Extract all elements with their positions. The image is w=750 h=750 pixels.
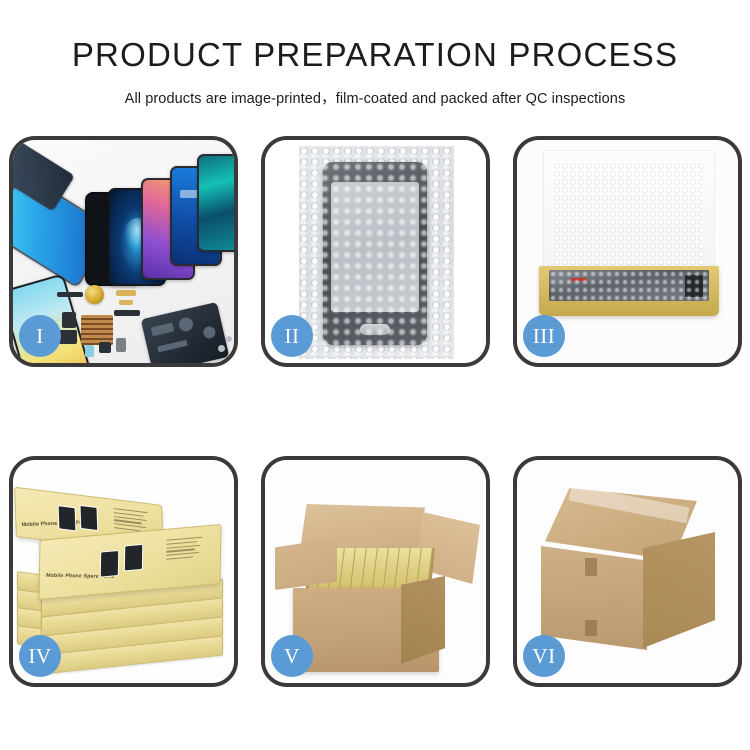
camera-part-icon xyxy=(99,342,111,353)
bracket-part-icon xyxy=(62,312,76,328)
box-phone-image xyxy=(100,550,119,578)
chip-grid-part-icon xyxy=(81,315,113,345)
wrapped-screen-in-box xyxy=(549,270,709,301)
step-badge-6: VI xyxy=(523,635,565,677)
page-subtitle: All products are image-printed，film-coat… xyxy=(0,74,750,108)
carton-seam-tab xyxy=(585,558,597,576)
screw-part-icon xyxy=(218,345,225,352)
antenna-part-icon xyxy=(59,330,77,344)
home-button-icon xyxy=(360,324,390,335)
vibration-motor-part-icon xyxy=(85,285,104,304)
process-step-grid: I II xyxy=(9,136,741,687)
step-badge-2: II xyxy=(271,315,313,357)
process-step-panel-3: III xyxy=(513,136,742,367)
phone-teal-wave-icon xyxy=(197,154,234,252)
page-title: PRODUCT PREPARATION PROCESS xyxy=(0,0,750,74)
process-step-panel-6: VI xyxy=(513,456,742,687)
kraft-box-base xyxy=(539,266,719,316)
flex-cable-part-icon xyxy=(116,290,136,296)
step-badge-1: I xyxy=(19,315,61,357)
process-step-panel-5: V xyxy=(261,456,490,687)
step-badge-3: III xyxy=(523,315,565,357)
ribbon-part-icon xyxy=(114,310,140,316)
speaker-part-icon xyxy=(57,292,83,297)
carton-seam-tab xyxy=(585,620,597,636)
screw-part-icon xyxy=(226,336,232,342)
red-marker-strip xyxy=(571,278,587,281)
connector-part-icon xyxy=(116,338,126,352)
logic-board-part-icon xyxy=(141,302,230,363)
process-step-panel-2: II xyxy=(261,136,490,367)
carton-side-face xyxy=(643,532,715,648)
phone-screen-assembly xyxy=(323,162,427,345)
box-phone-image xyxy=(79,505,98,531)
box-phone-image xyxy=(58,505,77,531)
process-step-panel-4: Mobile Phone Spare Parts Mobile Phone Sp… xyxy=(9,456,238,687)
page-header: PRODUCT PREPARATION PROCESS All products… xyxy=(0,0,750,108)
process-step-panel-1: I xyxy=(9,136,238,367)
product-preparation-process-page: PRODUCT PREPARATION PROCESS All products… xyxy=(0,0,750,750)
box-phone-image xyxy=(124,544,143,572)
screen-display-area xyxy=(331,182,419,312)
step-badge-4: IV xyxy=(19,635,61,677)
step-badge-5: V xyxy=(271,635,313,677)
foam-padding xyxy=(553,162,703,270)
carton-left-flap xyxy=(275,538,337,590)
box-spec-lines xyxy=(166,536,207,570)
sim-tray-part-icon xyxy=(85,345,94,357)
button-flex-part-icon xyxy=(119,300,133,305)
connector-end-icon xyxy=(685,275,703,297)
carton-front-face xyxy=(541,546,647,650)
